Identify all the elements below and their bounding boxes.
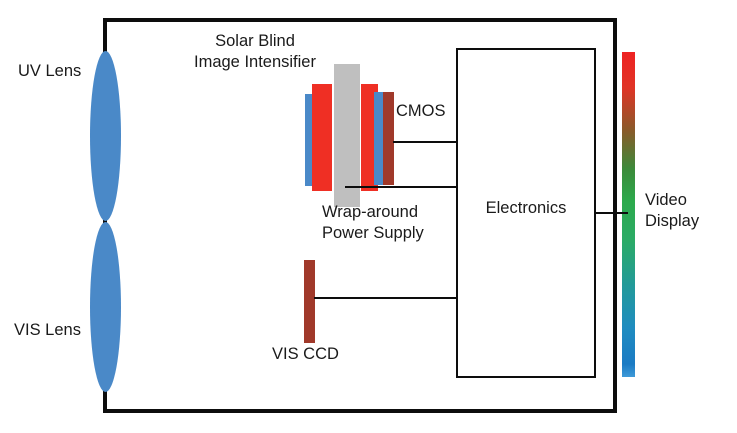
vis-ccd-chip [304,260,315,343]
vis-lens-label: VIS Lens [14,320,81,341]
wrap-around-power-supply-label: Wrap-around Power Supply [322,202,424,244]
wire-vis-ccd-to-electronics [314,297,457,299]
wire-cmos-to-electronics [393,141,457,143]
solar-blind-image-intensifier-label: Solar Blind Image Intensifier [175,31,335,73]
vis-ccd-label: VIS CCD [272,344,339,365]
wire-power-supply-to-electronics [345,186,457,188]
intensifier-photocathode-layer [312,84,332,191]
cmos-sensor-chip [383,92,394,185]
uv-lens-label: UV Lens [18,61,81,82]
video-display-bar [622,52,635,377]
vis-lens-shape [90,222,121,392]
video-display-label: Video Display [645,190,699,232]
diagram-canvas: Electronics UV Lens VIS Lens Solar Blind… [0,0,737,433]
cmos-label: CMOS [396,101,446,122]
uv-lens-shape [90,51,121,221]
electronics-label: Electronics [456,198,596,219]
wire-electronics-to-video-display [595,212,628,214]
